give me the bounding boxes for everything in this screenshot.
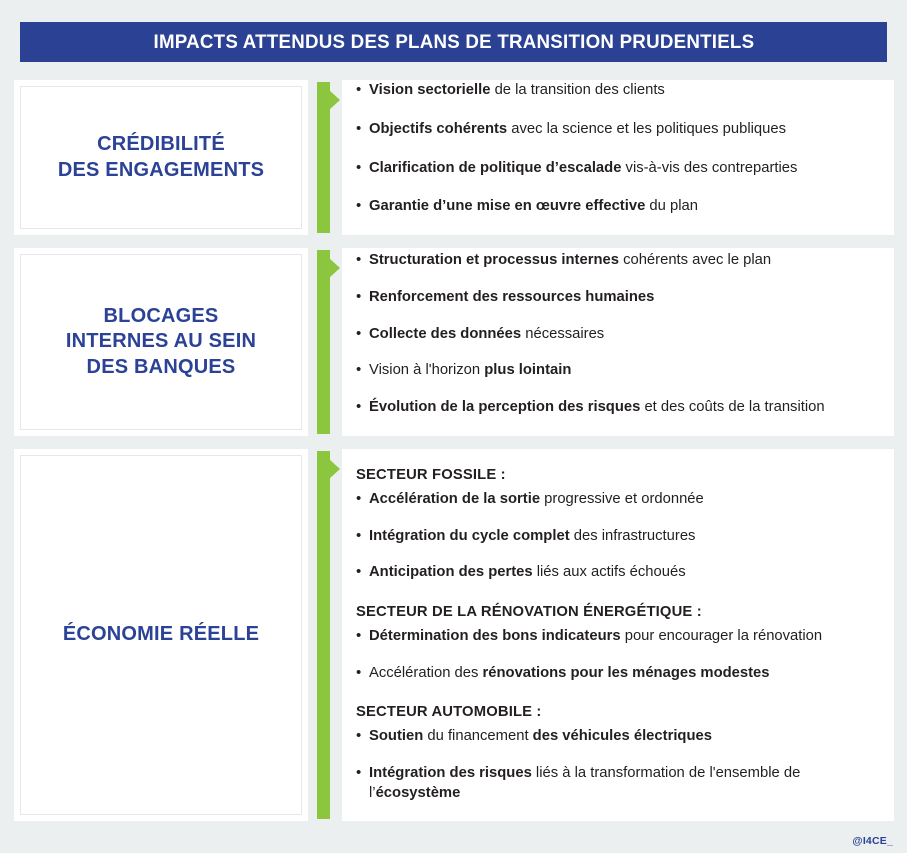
bullet-bold: Intégration des risques	[369, 765, 532, 781]
bullet-list: Accélération de la sortie progressive et…	[356, 490, 876, 583]
section-label-frame: ÉCONOMIE RÉELLE	[20, 455, 302, 815]
section-label-frame: CRÉDIBILITÉ DES ENGAGEMENTS	[20, 86, 302, 229]
list-item: Intégration du cycle complet des infrast…	[356, 527, 876, 547]
arrow-right-icon	[329, 258, 340, 278]
list-item: Accélération des rénovations pour les mé…	[356, 664, 876, 684]
section-label-card: BLOCAGES INTERNES AU SEIN DES BANQUES	[14, 248, 308, 436]
bullet-lead: Accélération des	[369, 665, 483, 681]
list-item: Évolution de la perception des risques e…	[356, 398, 876, 418]
sector-group-fossile: SECTEUR FOSSILE : Accélération de la sor…	[356, 467, 876, 583]
bullet-bold: Objectifs cohérents	[369, 121, 507, 137]
bullet-bold-2: écosystème	[376, 785, 461, 801]
list-item: Accélération de la sortie progressive et…	[356, 490, 876, 510]
bullet-rest: du financement	[423, 728, 532, 744]
list-item: Objectifs cohérents avec la science et l…	[356, 120, 876, 140]
bullet-rest: nécessaires	[521, 326, 604, 342]
infographic-page: IMPACTS ATTENDUS DES PLANS DE TRANSITION…	[0, 0, 907, 853]
bullet-bold: Intégration du cycle complet	[369, 528, 570, 544]
bullet-bold: Vision sectorielle	[369, 82, 490, 98]
bullet-rest: liés aux actifs échoués	[533, 564, 686, 580]
list-item: Collecte des données nécessaires	[356, 325, 876, 345]
bullet-rest: des infrastructures	[570, 528, 696, 544]
bullet-bold: Anticipation des pertes	[369, 564, 533, 580]
bullet-bold: rénovations pour les ménages modestes	[483, 665, 770, 681]
section-row-credibilite: CRÉDIBILITÉ DES ENGAGEMENTS Vision secto…	[14, 80, 894, 235]
section-label-card: ÉCONOMIE RÉELLE	[14, 449, 308, 821]
list-item: Intégration des risques liés à la transf…	[356, 764, 876, 803]
list-item: Garantie d’une mise en œuvre effective d…	[356, 197, 876, 217]
section-row-economie-reelle: ÉCONOMIE RÉELLE SECTEUR FOSSILE : Accélé…	[14, 449, 894, 821]
bullet-rest: et des coûts de la transition	[640, 399, 824, 415]
bullet-rest: progressive et ordonnée	[540, 491, 704, 507]
bullet-rest: avec la science et les politiques publiq…	[507, 121, 786, 137]
section-label-text: BLOCAGES INTERNES AU SEIN DES BANQUES	[66, 304, 256, 381]
bullet-bold-2: des véhicules électriques	[533, 728, 712, 744]
bullet-rest: du plan	[645, 198, 698, 214]
bullet-bold: Accélération de la sortie	[369, 491, 540, 507]
bullet-bold: Clarification de politique d’escalade	[369, 160, 621, 176]
list-item: Soutien du financement des véhicules éle…	[356, 727, 876, 747]
bullet-bold: Détermination des bons indicateurs	[369, 628, 621, 644]
bullet-lead: Vision à l'horizon	[369, 362, 484, 378]
bullet-rest: de la transition des clients	[490, 82, 664, 98]
section-label-text: CRÉDIBILITÉ DES ENGAGEMENTS	[58, 132, 264, 183]
header-banner: IMPACTS ATTENDUS DES PLANS DE TRANSITION…	[20, 22, 887, 62]
bullet-rest: pour encourager la rénovation	[621, 628, 823, 644]
bullet-bold: Garantie d’une mise en œuvre effective	[369, 198, 645, 214]
bullet-bold: Évolution de la perception des risques	[369, 399, 640, 415]
sector-heading: SECTEUR AUTOMOBILE :	[356, 704, 876, 720]
connector-bar	[317, 451, 330, 819]
section-content-card: Vision sectorielle de la transition des …	[342, 80, 894, 235]
list-item: Vision à l'horizon plus lointain	[356, 361, 876, 381]
list-item: Renforcement des ressources humaines	[356, 288, 876, 308]
sector-group-renovation: SECTEUR DE LA RÉNOVATION ÉNERGÉTIQUE : D…	[356, 604, 876, 683]
arrow-right-icon	[329, 459, 340, 479]
sector-heading: SECTEUR FOSSILE :	[356, 467, 876, 483]
bullet-bold: Renforcement des ressources humaines	[369, 289, 654, 305]
bullet-bold: plus lointain	[484, 362, 571, 378]
bullet-list: Structuration et processus internes cohé…	[356, 251, 876, 434]
connector-arrow-1	[308, 80, 342, 235]
sector-heading: SECTEUR DE LA RÉNOVATION ÉNERGÉTIQUE :	[356, 604, 876, 620]
bullet-list: Vision sectorielle de la transition des …	[356, 81, 876, 236]
list-item: Structuration et processus internes cohé…	[356, 251, 876, 271]
list-item: Anticipation des pertes liés aux actifs …	[356, 563, 876, 583]
section-label-text: ÉCONOMIE RÉELLE	[63, 622, 259, 648]
section-label-frame: BLOCAGES INTERNES AU SEIN DES BANQUES	[20, 254, 302, 430]
section-content-card: SECTEUR FOSSILE : Accélération de la sor…	[342, 449, 894, 821]
social-handle: @I4CE_	[852, 835, 893, 847]
connector-arrow-3	[308, 449, 342, 821]
bullet-rest: vis-à-vis des contreparties	[621, 160, 797, 176]
list-item: Détermination des bons indicateurs pour …	[356, 627, 876, 647]
arrow-right-icon	[329, 90, 340, 110]
bullet-list: Détermination des bons indicateurs pour …	[356, 627, 876, 683]
bullet-bold: Soutien	[369, 728, 423, 744]
section-row-blocages: BLOCAGES INTERNES AU SEIN DES BANQUES St…	[14, 248, 894, 436]
section-label-card: CRÉDIBILITÉ DES ENGAGEMENTS	[14, 80, 308, 235]
bullet-rest: cohérents avec le plan	[619, 252, 771, 268]
section-content-card: Structuration et processus internes cohé…	[342, 248, 894, 436]
sector-group-automobile: SECTEUR AUTOMOBILE : Soutien du financem…	[356, 704, 876, 803]
list-item: Vision sectorielle de la transition des …	[356, 81, 876, 101]
bullet-bold: Structuration et processus internes	[369, 252, 619, 268]
connector-arrow-2	[308, 248, 342, 436]
bullet-list: Soutien du financement des véhicules éle…	[356, 727, 876, 803]
list-item: Clarification de politique d’escalade vi…	[356, 159, 876, 179]
page-title: IMPACTS ATTENDUS DES PLANS DE TRANSITION…	[153, 31, 754, 54]
bullet-bold: Collecte des données	[369, 326, 521, 342]
